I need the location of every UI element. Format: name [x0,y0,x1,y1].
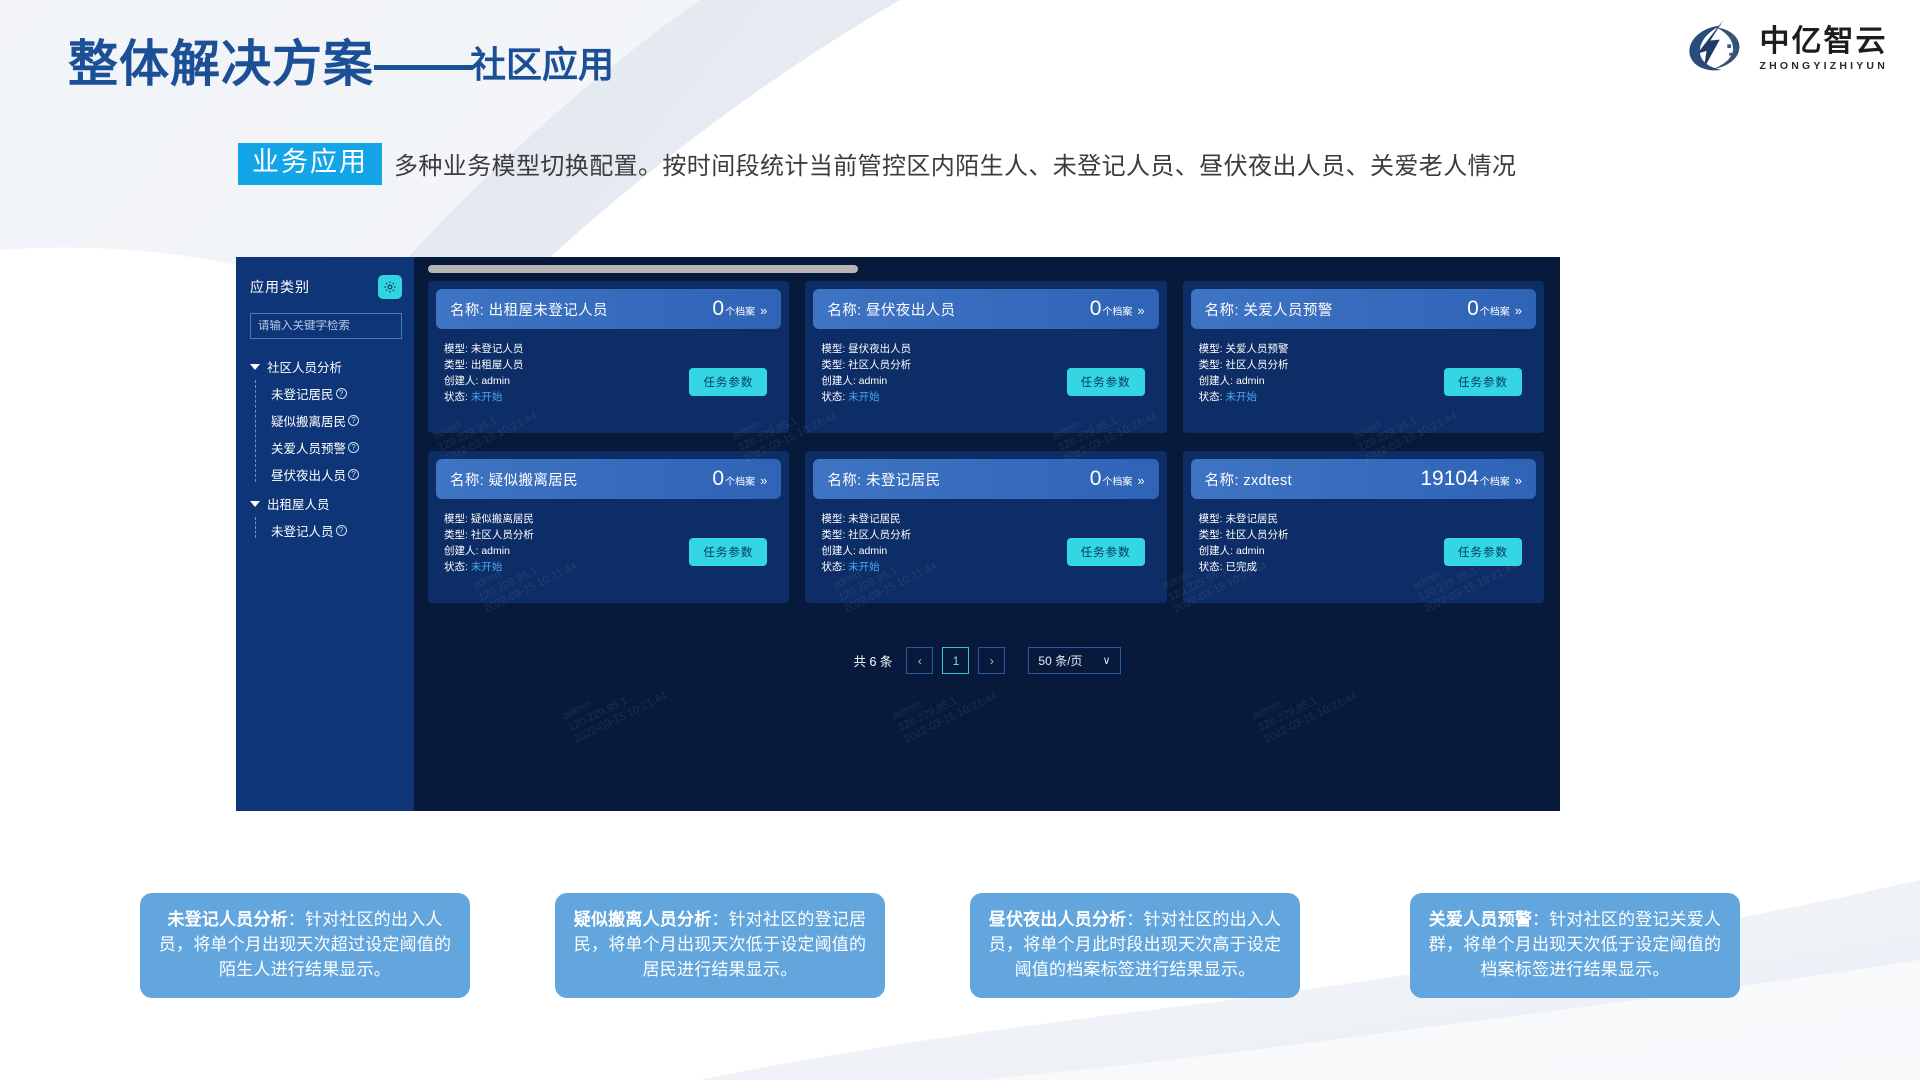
task-card-body: 模型: 关爱人员预警 类型: 社区人员分析 创建人: admin 状态: 未开始… [1191,341,1536,405]
horizontal-scrollbar[interactable] [428,265,858,273]
tagline-badge: 业务应用 [238,143,382,185]
task-card-title: 名称: zxdtest [1205,469,1292,490]
help-icon[interactable]: ? [348,469,359,480]
meta-type: 类型: 社区人员分析 [444,527,689,543]
page-size-value: 50 条/页 [1038,652,1082,669]
task-card-meta: 模型: 未登记居民 类型: 社区人员分析 创建人: admin 状态: 已完成 [1199,511,1444,575]
meta-creator: 创建人: admin [444,543,689,559]
task-card-title: 名称: 疑似搬离居民 [450,469,578,490]
task-params-button[interactable]: 任务参数 [1067,368,1145,396]
meta-status: 状态: 未开始 [821,559,1066,575]
watermark: admin120.229.95.12022-03-15 10:21:44 [561,667,670,747]
meta-model: 模型: 疑似搬离居民 [444,511,689,527]
status-badge: 未开始 [848,391,880,403]
sidebar-item-unregistered-residents[interactable]: 未登记居民 ? [271,380,402,407]
task-card-count[interactable]: 0个档案» [1090,467,1145,491]
task-card-meta: 模型: 疑似搬离居民 类型: 社区人员分析 创建人: admin 状态: 未开始 [444,511,689,575]
task-card-title: 名称: 未登记居民 [827,469,940,490]
task-params-button[interactable]: 任务参数 [1444,538,1522,566]
watermark: admin120.229.95.12022-03-15 10:21:44 [891,667,1000,747]
callout-title: 关爱人员预警 [1429,910,1532,929]
callout-colon: ： [288,910,305,929]
callout-unregistered-analysis: 未登记人员分析：针对社区的出入人员，将单个月出现天次超过设定阈值的陌生人进行结果… [140,893,470,998]
task-card-header[interactable]: 名称: 出租屋未登记人员 0个档案» [436,289,781,329]
meta-model: 模型: 关爱人员预警 [1199,341,1444,357]
status-badge: 未开始 [1226,391,1258,403]
meta-creator: 创建人: admin [1199,543,1444,559]
sidebar-item-rental-house-persons[interactable]: 出租屋人员 [250,490,402,517]
meta-status: 状态: 未开始 [444,559,689,575]
pagination-next-button[interactable]: › [978,647,1005,674]
callout-title: 昼伏夜出人员分析 [989,910,1127,929]
status-badge: 未开始 [848,561,880,573]
task-card-count[interactable]: 19104个档案» [1420,467,1522,491]
meta-type: 类型: 社区人员分析 [821,527,1066,543]
callout-title: 疑似搬离人员分析 [574,910,712,929]
help-icon[interactable]: ? [336,388,347,399]
task-card-count[interactable]: 0个档案» [712,467,767,491]
task-card[interactable]: 名称: 关爱人员预警 0个档案» 模型: 关爱人员预警 类型: 社区人员分析 创… [1183,281,1544,433]
callout-care-alert: 关爱人员预警：针对社区的登记关爱人群，将单个月出现天次低于设定阈值的档案标签进行… [1410,893,1740,998]
pagination: 共 6 条 ‹ 1 › 50 条/页 ∨ [414,647,1560,674]
meta-status: 状态: 已完成 [1199,559,1444,575]
task-card-header[interactable]: 名称: 昼伏夜出人员 0个档案» [813,289,1158,329]
chevron-down-icon[interactable]: ∨ [1102,654,1110,667]
lightning-swirl-icon [1681,16,1751,82]
meta-status: 状态: 未开始 [821,389,1066,405]
meta-creator: 创建人: admin [821,543,1066,559]
task-card[interactable]: 名称: zxdtest 19104个档案» 模型: 未登记居民 类型: 社区人员… [1183,451,1544,603]
help-icon[interactable]: ? [336,525,347,536]
callout-title: 未登记人员分析 [167,910,287,929]
task-card[interactable]: 名称: 昼伏夜出人员 0个档案» 模型: 昼伏夜出人员 类型: 社区人员分析 创… [805,281,1166,433]
task-card-header[interactable]: 名称: 疑似搬离居民 0个档案» [436,459,781,499]
callout-moveout-analysis: 疑似搬离人员分析：针对社区的登记居民，将单个月出现天次低于设定阈值的居民进行结果… [555,893,885,998]
sidebar-item-suspected-moveout-residents[interactable]: 疑似搬离居民 ? [271,407,402,434]
help-icon[interactable]: ? [348,415,359,426]
task-card-title: 名称: 昼伏夜出人员 [827,299,955,320]
content-area: admin120.229.95.12022-03-15 10:21:44 adm… [414,257,1560,811]
task-params-button[interactable]: 任务参数 [1067,538,1145,566]
tree-group-rental: 出租屋人员 未登记人员 ? [250,490,402,544]
task-card[interactable]: 名称: 疑似搬离居民 0个档案» 模型: 疑似搬离居民 类型: 社区人员分析 创… [428,451,789,603]
sidebar-item-community-analysis[interactable]: 社区人员分析 [250,353,402,380]
category-tree: 社区人员分析 未登记居民 ? 疑似搬离居民 ? 关爱人员预警 [250,353,402,544]
task-params-button[interactable]: 任务参数 [689,368,767,396]
meta-status: 状态: 未开始 [444,389,689,405]
page-title-dash: —— [374,36,470,92]
sidebar-header: 应用类别 [250,275,402,299]
task-params-button[interactable]: 任务参数 [689,538,767,566]
task-card[interactable]: 名称: 未登记居民 0个档案» 模型: 未登记居民 类型: 社区人员分析 创建人… [805,451,1166,603]
status-badge: 未开始 [471,561,503,573]
watermark: admin120.229.95.12022-03-15 10:21:44 [1251,667,1360,747]
sidebar-item-label: 关爱人员预警 [271,438,346,457]
task-card-grid: 名称: 出租屋未登记人员 0个档案» 模型: 未登记人员 类型: 出租屋人员 创… [428,281,1544,603]
task-card-count[interactable]: 0个档案» [1467,297,1522,321]
search-input[interactable] [258,320,412,332]
sidebar: 应用类别 社区人员分析 [236,257,414,811]
gear-icon[interactable] [378,275,402,299]
task-card-title: 名称: 出租屋未登记人员 [450,299,608,320]
task-card-meta: 模型: 昼伏夜出人员 类型: 社区人员分析 创建人: admin 状态: 未开始 [821,341,1066,405]
task-card-meta: 模型: 关爱人员预警 类型: 社区人员分析 创建人: admin 状态: 未开始 [1199,341,1444,405]
task-card-meta: 模型: 未登记人员 类型: 出租屋人员 创建人: admin 状态: 未开始 [444,341,689,405]
meta-model: 模型: 昼伏夜出人员 [821,341,1066,357]
pagination-total: 共 6 条 [854,651,893,670]
task-card-header[interactable]: 名称: zxdtest 19104个档案» [1191,459,1536,499]
task-card-count[interactable]: 0个档案» [712,297,767,321]
logo-brand-cn: 中亿智云 [1759,26,1887,58]
meta-status: 状态: 未开始 [1199,389,1444,405]
task-card-body: 模型: 疑似搬离居民 类型: 社区人员分析 创建人: admin 状态: 未开始… [436,511,781,575]
status-badge: 已完成 [1226,561,1258,573]
sidebar-item-label: 未登记居民 [271,384,334,403]
sidebar-item-label: 未登记人员 [271,521,334,540]
task-card-body: 模型: 未登记居民 类型: 社区人员分析 创建人: admin 状态: 已完成 … [1191,511,1536,575]
meta-type: 类型: 社区人员分析 [1199,527,1444,543]
meta-creator: 创建人: admin [821,373,1066,389]
meta-model: 模型: 未登记人员 [444,341,689,357]
tree-group-community: 社区人员分析 未登记居民 ? 疑似搬离居民 ? 关爱人员预警 [250,353,402,488]
status-badge: 未开始 [471,391,503,403]
page-size-select[interactable]: 50 条/页 ∨ [1028,647,1120,674]
tree-children-community: 未登记居民 ? 疑似搬离居民 ? 关爱人员预警 ? 昼伏夜出人员 [255,380,402,488]
sidebar-item-care-person-alert[interactable]: 关爱人员预警 ? [271,434,402,461]
task-params-button[interactable]: 任务参数 [1444,368,1522,396]
sidebar-item-label: 昼伏夜出人员 [271,465,346,484]
task-card-count[interactable]: 0个档案» [1090,297,1145,321]
task-card-body: 模型: 未登记居民 类型: 社区人员分析 创建人: admin 状态: 未开始 … [813,511,1158,575]
sidebar-item-nocturnal-persons[interactable]: 昼伏夜出人员 ? [271,461,402,488]
sidebar-item-label: 出租屋人员 [267,494,330,513]
task-card-body: 模型: 昼伏夜出人员 类型: 社区人员分析 创建人: admin 状态: 未开始… [813,341,1158,405]
search-box[interactable] [250,313,402,339]
brand-logo: 中亿智云 ZHONGYIZHIYUN [1681,16,1888,82]
help-icon[interactable]: ? [348,442,359,453]
meta-model: 模型: 未登记居民 [821,511,1066,527]
tagline-description: 多种业务模型切换配置。按时间段统计当前管控区内陌生人、未登记人员、昼伏夜出人员、… [394,146,1516,181]
task-card-header[interactable]: 名称: 未登记居民 0个档案» [813,459,1158,499]
task-card-title: 名称: 关爱人员预警 [1205,299,1333,320]
sidebar-item-unregistered-persons[interactable]: 未登记人员 ? [271,517,402,544]
meta-model: 模型: 未登记居民 [1199,511,1444,527]
pagination-prev-button[interactable]: ‹ [906,647,933,674]
meta-creator: 创建人: admin [1199,373,1444,389]
sidebar-title: 应用类别 [250,277,310,297]
task-card-header[interactable]: 名称: 关爱人员预警 0个档案» [1191,289,1536,329]
caret-down-icon[interactable] [250,501,260,507]
task-card-meta: 模型: 未登记居民 类型: 社区人员分析 创建人: admin 状态: 未开始 [821,511,1066,575]
page-title: 整体解决方案——社区应用 [68,24,614,96]
callout-colon: ： [1126,910,1143,929]
sidebar-item-label: 社区人员分析 [267,357,342,376]
meta-creator: 创建人: admin [444,373,689,389]
application-panel: 应用类别 社区人员分析 [236,257,1560,811]
page-title-main: 整体解决方案 [68,36,374,92]
logo-brand-en: ZHONGYIZHIYUN [1759,60,1888,72]
slide-root: 整体解决方案——社区应用 中亿智云 ZHONGYIZHIYUN 业务应用 多种业… [0,0,1920,1080]
meta-type: 类型: 社区人员分析 [1199,357,1444,373]
pagination-page-1[interactable]: 1 [942,647,969,674]
callout-nocturnal-analysis: 昼伏夜出人员分析：针对社区的出入人员，将单个月此时段出现天次高于设定阈值的档案标… [970,893,1300,998]
tagline: 业务应用 多种业务模型切换配置。按时间段统计当前管控区内陌生人、未登记人员、昼伏… [238,143,1516,185]
caret-down-icon[interactable] [250,364,260,370]
callout-colon: ： [711,910,728,929]
task-card-body: 模型: 未登记人员 类型: 出租屋人员 创建人: admin 状态: 未开始 任… [436,341,781,405]
meta-type: 类型: 出租屋人员 [444,357,689,373]
tree-children-rental: 未登记人员 ? [255,517,402,544]
page-title-sub: 社区应用 [470,44,614,85]
task-card[interactable]: 名称: 出租屋未登记人员 0个档案» 模型: 未登记人员 类型: 出租屋人员 创… [428,281,789,433]
sidebar-item-label: 疑似搬离居民 [271,411,346,430]
callout-colon: ： [1532,910,1549,929]
meta-type: 类型: 社区人员分析 [821,357,1066,373]
